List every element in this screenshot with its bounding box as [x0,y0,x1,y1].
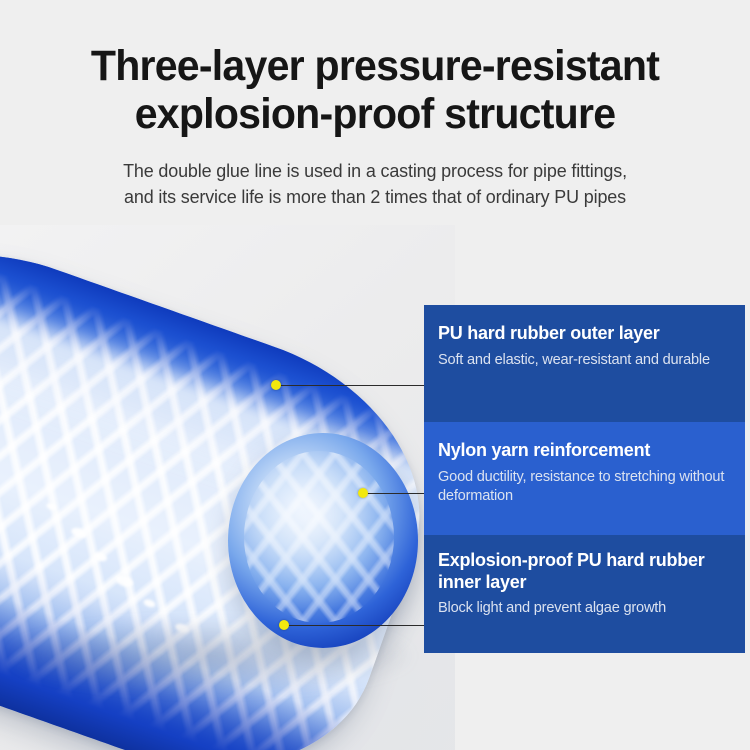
page-title-line-1: Three-layer pressure-resistant [17,42,733,90]
callout-panel-nylon-yarn-reinforcement[interactable]: Nylon yarn reinforcement Good ductility,… [424,422,745,535]
page-subtitle-line-2: and its service life is more than 2 time… [11,184,739,210]
infographic-canvas: Three-layer pressure-resistant explosion… [0,0,750,750]
header: Three-layer pressure-resistant explosion… [0,0,750,210]
callout-description: Good ductility, resistance to stretching… [438,468,729,506]
callout-title: Nylon yarn reinforcement [438,439,729,461]
page-title-line-2: explosion-proof structure [17,90,733,138]
callout-description: Soft and elastic, wear-resistant and dur… [438,351,729,370]
callout-panel-group: PU hard rubber outer layer Soft and elas… [424,305,745,653]
callout-title: PU hard rubber outer layer [438,322,729,344]
hose-rounded-end-cap [228,433,418,648]
callout-title: Explosion-proof PU hard rubber inner lay… [438,549,729,593]
callout-panel-pu-hard-rubber-outer-layer[interactable]: PU hard rubber outer layer Soft and elas… [424,305,745,422]
page-title: Three-layer pressure-resistant explosion… [17,0,733,138]
product-photo [0,225,455,750]
hose-end-cap-core [244,451,394,623]
page-subtitle-line-1: The double glue line is used in a castin… [11,158,739,184]
hose-end-cap-braid [244,451,394,623]
callout-panel-explosion-proof-pu-hard-rubber-inner-layer[interactable]: Explosion-proof PU hard rubber inner lay… [424,535,745,653]
page-subtitle: The double glue line is used in a castin… [11,138,739,210]
callout-description: Block light and prevent algae growth [438,599,729,618]
